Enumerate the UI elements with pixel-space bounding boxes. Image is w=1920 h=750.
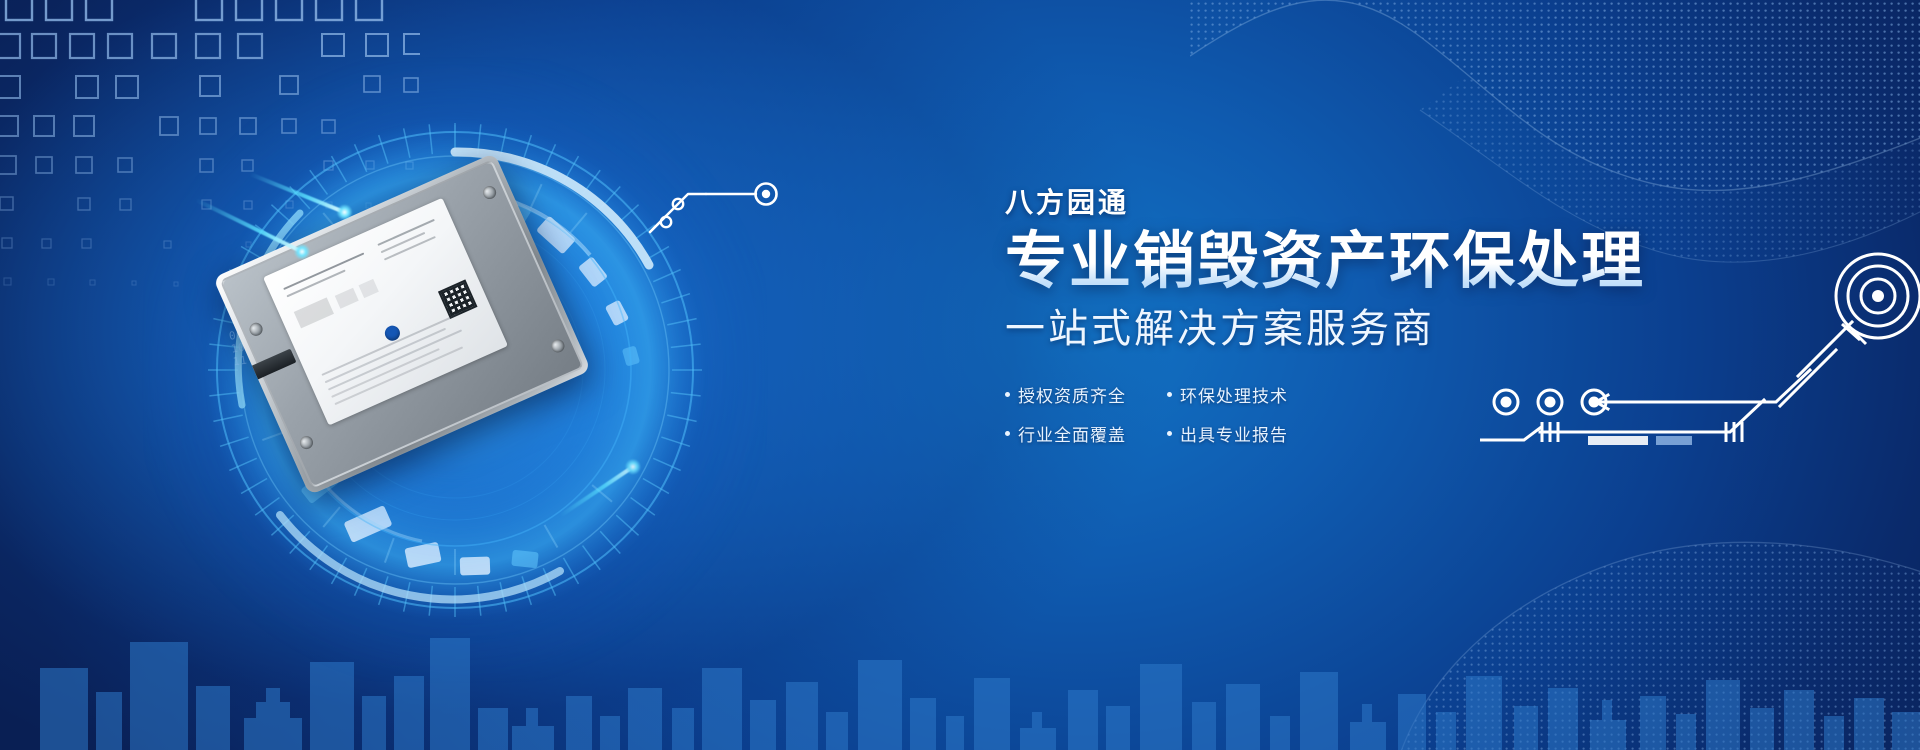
subheadline: 一站式解决方案服务商 [1005, 304, 1705, 354]
feature-list: 授权资质齐全 环保处理技术 行业全面覆盖 出具专业报告 [1005, 382, 1705, 446]
promo-banner: 0010 1001 100 10 1011 001 11 1:0 0110 11 [0, 0, 1920, 750]
feature-label: 环保处理技术 [1180, 382, 1288, 407]
circuit-node-icon [756, 184, 777, 205]
feature-item: 出具专业报告 [1167, 421, 1307, 446]
bullet-dot-icon [1167, 431, 1172, 436]
city-skyline-silhouette [0, 520, 1920, 750]
dotted-wireframe-wave-bottom [1260, 460, 1920, 750]
feature-item: 行业全面覆盖 [1005, 421, 1145, 446]
hdd-body [213, 153, 591, 496]
circuit-disc-icon [1836, 254, 1920, 344]
bullet-dot-icon [1005, 431, 1010, 436]
circuit-trace-left [648, 160, 818, 240]
feature-label: 授权资质齐全 [1018, 382, 1126, 407]
feature-item: 授权资质齐全 [1005, 382, 1145, 407]
brand-name: 八方园通 [1005, 186, 1705, 220]
hard-disk-drive [248, 205, 578, 495]
circuit-node-icon [661, 217, 671, 227]
feature-label: 行业全面覆盖 [1018, 421, 1126, 446]
banner-copy: 八方园通 专业销毁资产环保处理 一站式解决方案服务商 授权资质齐全 环保处理技术… [1005, 186, 1705, 446]
bullet-dot-icon [1005, 392, 1010, 397]
headline: 专业销毁资产环保处理 [1005, 228, 1705, 296]
feature-label: 出具专业报告 [1180, 421, 1288, 446]
bullet-dot-icon [1167, 392, 1172, 397]
feature-item: 环保处理技术 [1167, 382, 1307, 407]
circuit-node-icon [673, 199, 683, 209]
